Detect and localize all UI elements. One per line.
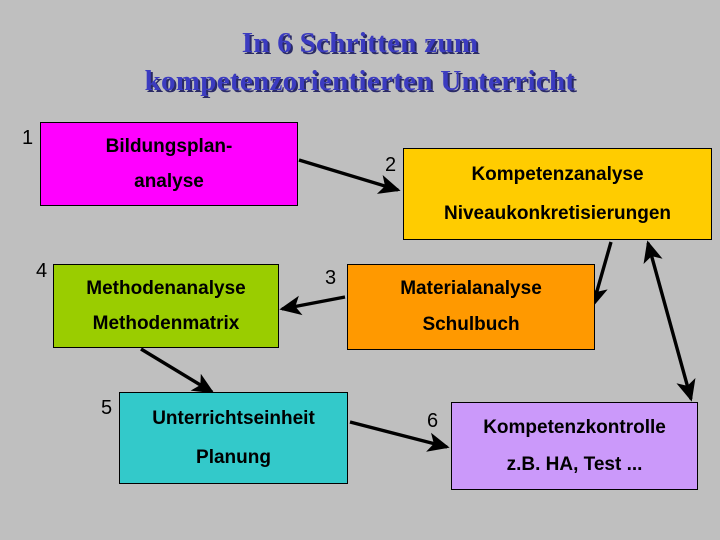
step-number-3: 3 bbox=[325, 268, 336, 288]
step-number-5: 5 bbox=[101, 398, 112, 418]
step-box-2-line2: Niveaukonkretisierungen bbox=[408, 203, 707, 225]
step-box-2-kompetenzanalyse[interactable]: Kompetenzanalyse Niveaukonkretisierungen bbox=[403, 148, 712, 240]
step-box-5-line2: Planung bbox=[124, 447, 343, 469]
step-box-1-line2: analyse bbox=[45, 171, 293, 193]
step-number-1: 1 bbox=[22, 128, 33, 148]
step-box-1-bildungsplananalyse[interactable]: Bildungsplan- analyse bbox=[40, 122, 298, 206]
step-box-4-line2: Methodenmatrix bbox=[58, 313, 274, 335]
step-box-5-unterrichtseinheit[interactable]: Unterrichtseinheit Planung bbox=[119, 392, 348, 484]
step-box-5-line1: Unterrichtseinheit bbox=[124, 408, 343, 430]
step-number-4: 4 bbox=[36, 261, 47, 281]
arrow-step4-to-step5 bbox=[141, 349, 212, 392]
step-box-6-line1: Kompetenzkontrolle bbox=[456, 417, 693, 439]
step-number-2: 2 bbox=[385, 155, 396, 175]
step-box-4-methodenanalyse[interactable]: Methodenanalyse Methodenmatrix bbox=[53, 264, 279, 348]
step-box-4-line1: Methodenanalyse bbox=[58, 278, 274, 300]
step-box-2-line1: Kompetenzanalyse bbox=[408, 164, 707, 186]
step-box-6-line2: z.B. HA, Test ... bbox=[456, 454, 693, 476]
step-number-6: 6 bbox=[427, 411, 438, 431]
step-box-1-line1: Bildungsplan- bbox=[45, 136, 293, 158]
slide-canvas: In 6 Schritten zum kompetenzorientierten… bbox=[0, 0, 720, 540]
arrow-step3-to-step4 bbox=[282, 297, 345, 309]
arrow-step1-to-step2 bbox=[299, 160, 398, 190]
step-box-3-line1: Materialanalyse bbox=[352, 278, 590, 300]
step-box-3-materialanalyse[interactable]: Materialanalyse Schulbuch bbox=[347, 264, 595, 350]
arrow-step6-to-step2 bbox=[648, 243, 691, 399]
step-box-6-kompetenzkontrolle[interactable]: Kompetenzkontrolle z.B. HA, Test ... bbox=[451, 402, 698, 490]
arrow-step2-to-step3 bbox=[593, 242, 611, 305]
step-box-3-line2: Schulbuch bbox=[352, 314, 590, 336]
page-title: In 6 Schritten zum kompetenzorientierten… bbox=[0, 24, 720, 100]
